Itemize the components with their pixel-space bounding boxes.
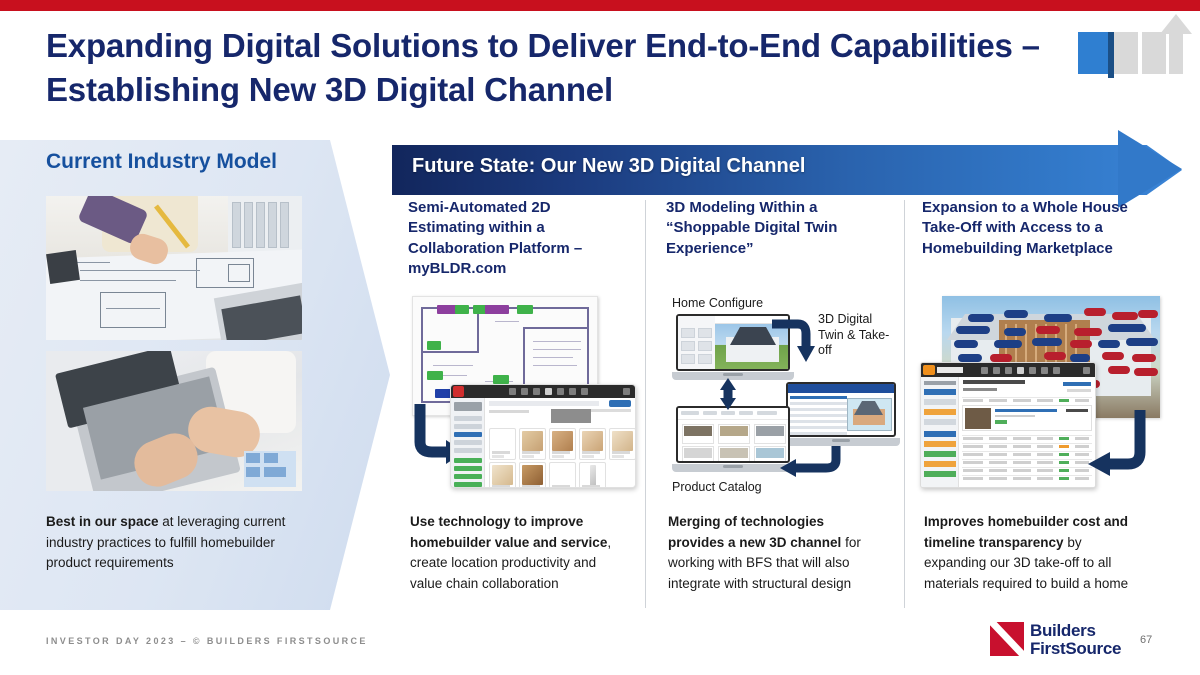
column-2-caption: Merging of technologies provides a new 3… [668, 512, 880, 594]
column-1-caption: Use technology to improve homebuilder va… [410, 512, 622, 594]
column-1-artwork [406, 296, 638, 492]
bfs-slash-icon [990, 622, 1024, 656]
product-catalog-laptop-mockup [672, 406, 794, 472]
current-industry-caption-bold: Best in our space [46, 514, 159, 529]
bfs-mark-icon [990, 622, 1024, 656]
column-3-caption-bold: Improves homebuilder cost and timeline t… [924, 514, 1128, 550]
future-state-banner-label: Future State: Our New 3D Digital Channel [412, 155, 805, 178]
home-configure-laptop-mockup [672, 314, 794, 380]
blueprints-drafting-photo [46, 196, 302, 340]
column-2: 3D Modeling Within a “Shoppable Digital … [666, 198, 896, 259]
product-catalog-label: Product Catalog [672, 480, 762, 494]
bfs-logo-line2: FirstSource [1030, 639, 1121, 659]
bfs-logo-line1: Builders [1030, 621, 1096, 641]
page-title: Expanding Digital Solutions to Deliver E… [46, 24, 1066, 112]
current-industry-caption: Best in our space at leveraging current … [46, 512, 308, 574]
corner-arrow-head-icon [1160, 14, 1192, 34]
column-divider-2 [904, 200, 905, 608]
laptop-typing-plans-photo [46, 351, 302, 491]
catalog-logo-icon [453, 386, 464, 397]
top-red-bar [0, 0, 1200, 11]
marketplace-ui-mockup [920, 362, 1096, 488]
digital-twin-label: 3D Digital Twin & Take-off [818, 312, 898, 359]
corner-block-blue [1078, 32, 1108, 74]
column-1: Semi-Automated 2D Estimating within a Co… [408, 198, 630, 279]
corner-block-gray-2 [1142, 32, 1166, 74]
column-divider-1 [645, 200, 646, 608]
marketplace-logo-icon [923, 365, 935, 375]
footer-copyright: INVESTOR DAY 2023 – © BUILDERS FIRSTSOUR… [46, 636, 368, 646]
column-3-flow-arrow-icon [1078, 408, 1150, 486]
column-3: Expansion to a Whole House Take-Off with… [922, 198, 1158, 259]
column-2-artwork: Home Configure 3D Digital Twin & Take-of… [666, 296, 898, 496]
column-3-heading: Expansion to a Whole House Take-Off with… [922, 198, 1158, 259]
column-2-caption-bold: Merging of technologies provides a new 3… [668, 514, 841, 550]
column-3-artwork [920, 296, 1160, 492]
column-1-heading: Semi-Automated 2D Estimating within a Co… [408, 198, 630, 279]
corner-block-gray-1 [1114, 32, 1138, 74]
corner-arrow-body [1169, 28, 1183, 74]
page-number: 67 [1140, 634, 1152, 646]
builders-firstsource-logo: Builders FirstSource [990, 620, 1122, 662]
home-configure-label: Home Configure [672, 296, 763, 310]
future-state-banner-arrow-icon [1118, 130, 1182, 208]
current-industry-heading: Current Industry Model [46, 150, 277, 174]
column-2-heading: 3D Modeling Within a “Shoppable Digital … [666, 198, 896, 259]
column-1-caption-bold: Use technology to improve homebuilder va… [410, 514, 607, 550]
slide-root: Expanding Digital Solutions to Deliver E… [0, 0, 1200, 675]
product-catalog-ui-mockup [450, 384, 636, 488]
column-3-caption: Improves homebuilder cost and timeline t… [924, 512, 1144, 594]
digital-twin-laptop-mockup [782, 382, 900, 446]
corner-growth-arrow-graphic [1074, 14, 1186, 76]
